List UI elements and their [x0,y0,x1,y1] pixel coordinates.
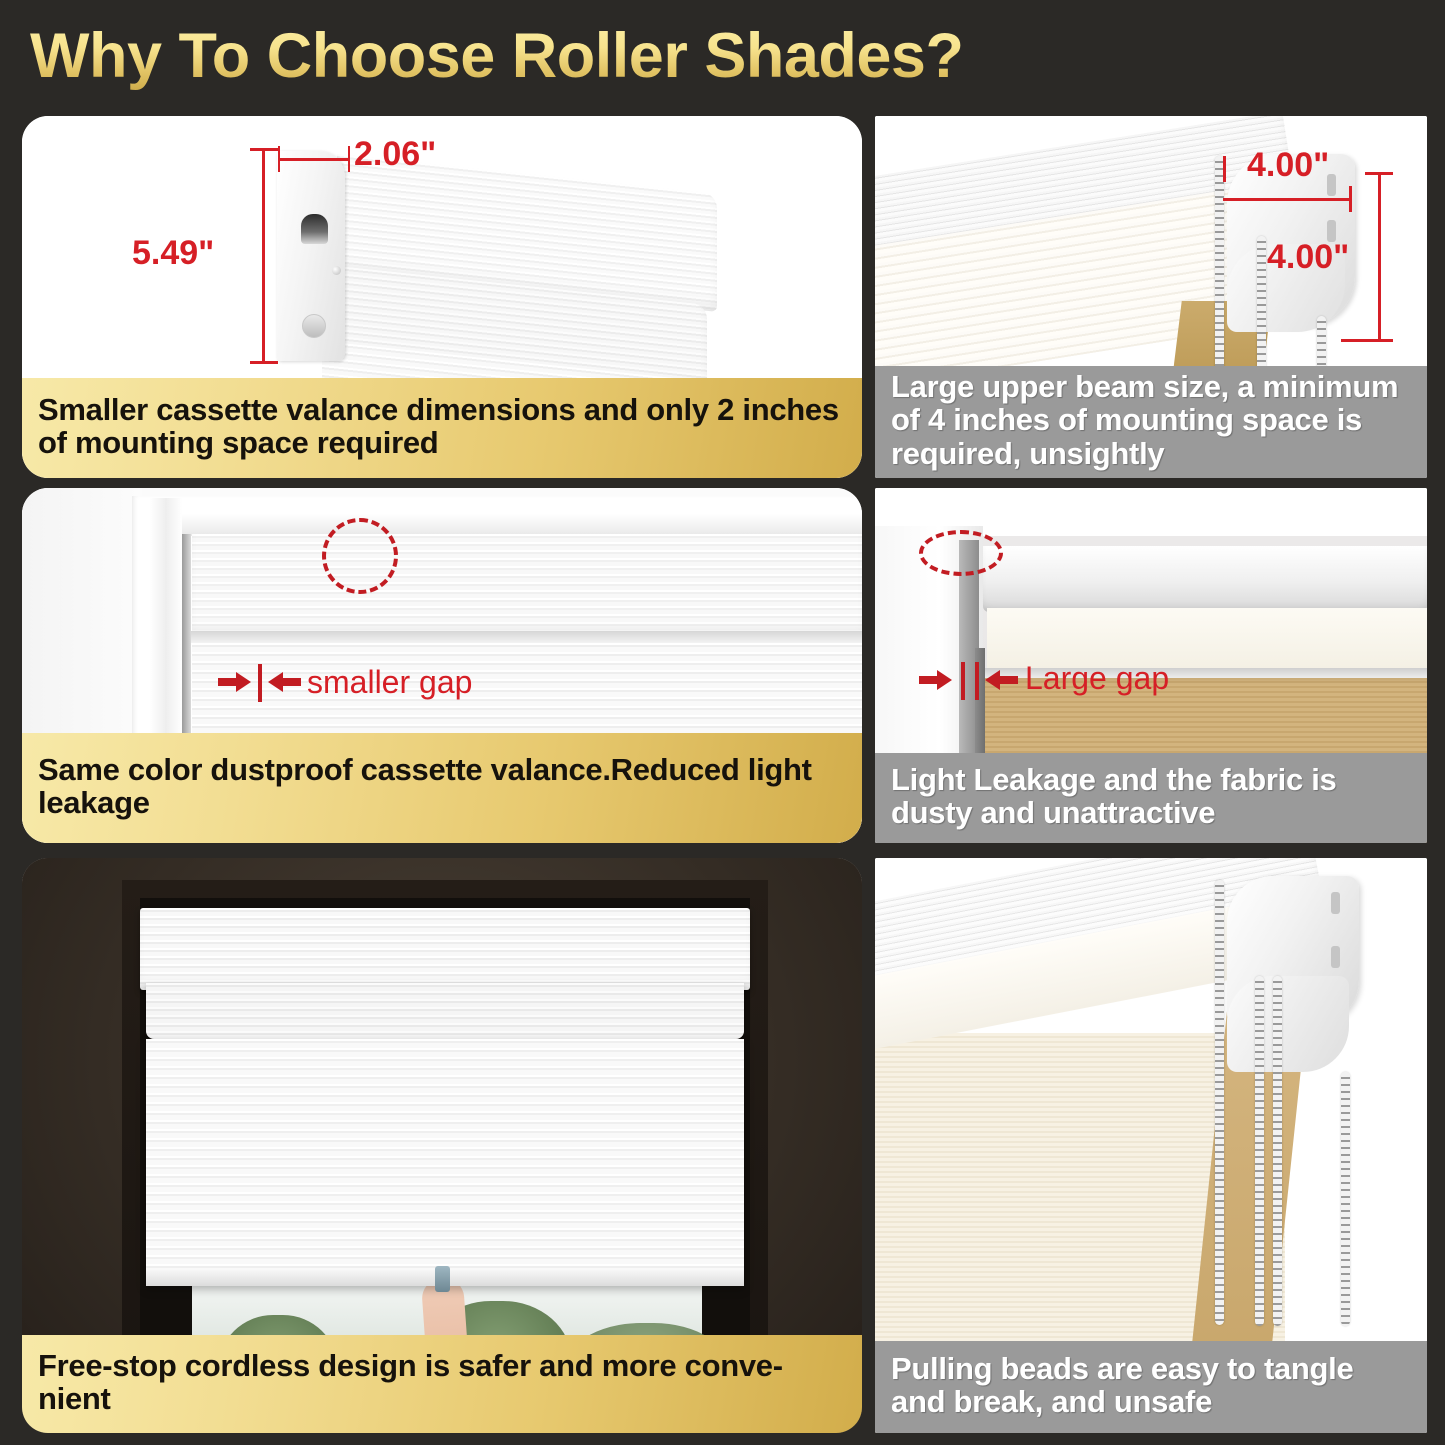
page-title: Why To Choose Roller Shades? [30,20,963,92]
panel-caption-pulling-beads: Pulling beads are easy to tangle and bre… [875,1341,1427,1433]
panel-caption-large-upper-beam: Large upper beam size, a minimum of 4 in… [875,366,1427,478]
height-dim-tick-top [250,148,278,151]
width-dimension-label: 2.06" [354,135,436,174]
top-dim-tick-right [1349,186,1352,212]
gap-marker [258,664,262,702]
top-dim-line [1223,198,1351,201]
beam-width-label: 4.00" [1247,146,1329,185]
panel-caption-smaller-cassette: Smaller cassette valance dimensions and … [22,378,862,478]
bead-chain-4 [1341,1072,1350,1326]
caption-text: Light Leakage and the fabric is dusty an… [891,763,1411,829]
top-dim-tick-left [1223,156,1226,182]
width-dim-line [278,158,350,161]
panel-caption-cordless-design: Free-stop cordless design is safer and m… [22,1335,862,1433]
gap-arrow-left-icon [218,670,252,694]
caption-text: Large upper beam size, a minimum of 4 in… [891,370,1411,469]
gap-highlight-circle [919,530,1003,576]
height-dimension-label: 5.49" [132,234,214,273]
panel-large-upper-beam[interactable]: 4.00" 4.00" Large upper beam size, a min… [875,116,1427,478]
gap-arrow-right-icon [268,670,302,694]
page-header: Why To Choose Roller Shades? Why To Choo… [0,0,1445,103]
caption-text: Same color dustproof cassette valance.Re… [38,753,846,819]
panel-light-leakage[interactable]: Large gap Light Leakage and the fabric i… [875,488,1427,843]
gap-highlight-circle [322,518,398,594]
height-dim-tick-bottom [250,361,278,364]
bead-chain-3 [1273,976,1282,1326]
comparison-grid: 2.06" 5.49" Smaller cassette valance dim… [0,103,1445,1445]
pull-handle [435,1266,450,1292]
bead-chain-2 [1255,976,1264,1326]
panel-caption-dustproof-valance: Same color dustproof cassette valance.Re… [22,733,862,843]
panel-cordless-design[interactable]: Free-stop cordless design is safer and m… [22,858,862,1433]
beam-height-label: 4.00" [1267,238,1349,277]
gap-marker-b [975,662,979,700]
side-dim-line [1378,172,1381,342]
gap-arrow-left-icon [919,668,953,692]
caption-text: Pulling beads are easy to tangle and bre… [891,1352,1411,1418]
caption-text: Free-stop cordless design is safer and m… [38,1349,846,1415]
side-dim-tick-bottom [1341,339,1393,342]
smaller-gap-label: smaller gap [307,664,472,701]
panel-pulling-beads[interactable]: Pulling beads are easy to tangle and bre… [875,858,1427,1433]
side-dim-tick-top [1365,172,1393,175]
panel-smaller-cassette[interactable]: 2.06" 5.49" Smaller cassette valance dim… [22,116,862,478]
height-dim-line [262,148,265,364]
large-gap-label: Large gap [1025,660,1169,697]
panel-dustproof-valance[interactable]: smaller gap Same color dustproof cassett… [22,488,862,843]
gap-arrow-right-icon [985,668,1019,692]
caption-text: Smaller cassette valance dimensions and … [38,393,846,459]
panel-caption-light-leakage: Light Leakage and the fabric is dusty an… [875,753,1427,843]
gap-marker-a [961,662,965,700]
bead-chain-1 [1215,880,1224,1325]
